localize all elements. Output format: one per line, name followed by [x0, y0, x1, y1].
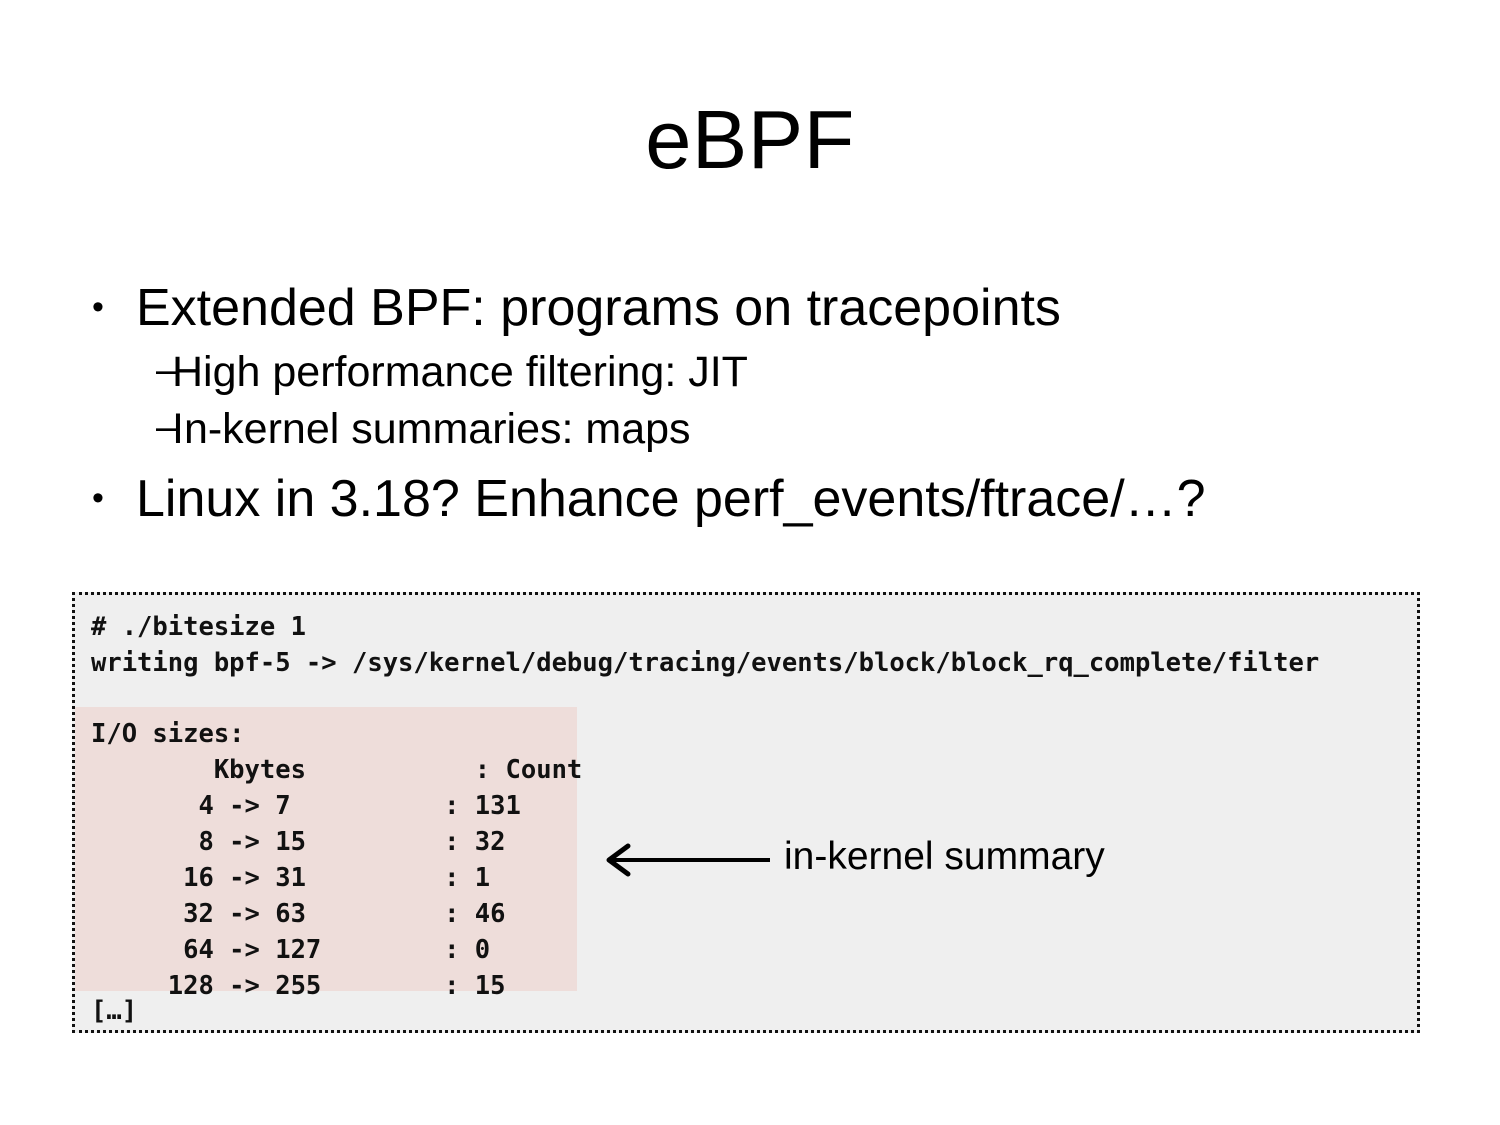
console-output-box: # ./bitesize 1 writing bpf-5 -> /sys/ker… — [72, 592, 1420, 1033]
annotation-group: in-kernel summary — [598, 832, 1158, 888]
bullet-item-primary: • Extended BPF: programs on tracepoints — [78, 278, 1418, 339]
bullet-list: • Extended BPF: programs on tracepoints … — [78, 278, 1418, 535]
summary-table-header: Kbytes : Count — [91, 752, 611, 788]
bullet-marker-icon: • — [78, 278, 136, 336]
dash-marker-icon: – — [78, 402, 166, 453]
bullet-text: Extended BPF: programs on tracepoints — [136, 278, 1418, 339]
summary-lines: I/O sizes: Kbytes : Count 4 -> 7 : 131 8… — [91, 716, 611, 1004]
console-head-lines: # ./bitesize 1 writing bpf-5 -> /sys/ker… — [91, 609, 1411, 681]
console-tail-lines: […] — [91, 993, 137, 1029]
console-writing-line: writing bpf-5 -> /sys/kernel/debug/traci… — [91, 645, 1411, 681]
bullet-item-primary: • Linux in 3.18? Enhance perf_events/ftr… — [78, 469, 1418, 530]
annotation-label: in-kernel summary — [784, 829, 1105, 885]
bullet-item-secondary: – High performance filtering: JIT — [78, 345, 1418, 400]
summary-title-line: I/O sizes: — [91, 716, 611, 752]
bullet-item-secondary: – In-kernel summaries: maps — [78, 402, 1418, 457]
left-arrow-icon — [598, 832, 778, 888]
bullet-text: Linux in 3.18? Enhance perf_events/ftrac… — [136, 469, 1418, 530]
summary-table-row: 4 -> 7 : 131 — [91, 788, 611, 824]
bullet-text: In-kernel summaries: maps — [166, 402, 1418, 457]
summary-table-row: 64 -> 127 : 0 — [91, 932, 611, 968]
console-content: # ./bitesize 1 writing bpf-5 -> /sys/ker… — [75, 595, 1417, 1030]
console-prompt-line: # ./bitesize 1 — [91, 609, 1411, 645]
summary-table-row: 16 -> 31 : 1 — [91, 860, 611, 896]
summary-table-row: 32 -> 63 : 46 — [91, 896, 611, 932]
summary-table-row: 128 -> 255 : 15 — [91, 968, 611, 1004]
console-truncated-line: […] — [91, 993, 137, 1029]
bullet-marker-icon: • — [78, 469, 136, 527]
page-title: eBPF — [0, 98, 1500, 181]
dash-marker-icon: – — [78, 345, 166, 396]
bullet-sublist: – High performance filtering: JIT – In-k… — [78, 345, 1418, 457]
bullet-text: High performance filtering: JIT — [166, 345, 1418, 400]
summary-table-row: 8 -> 15 : 32 — [91, 824, 611, 860]
